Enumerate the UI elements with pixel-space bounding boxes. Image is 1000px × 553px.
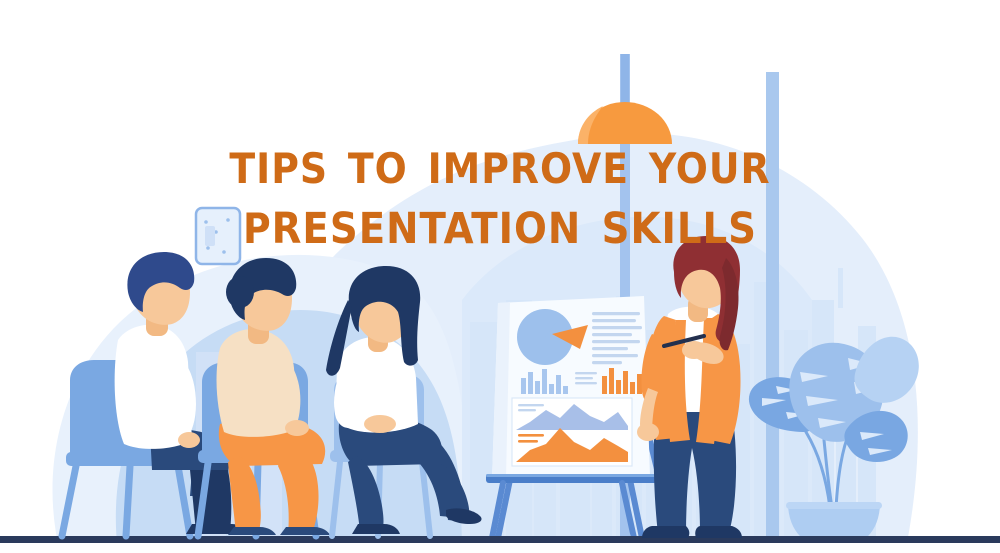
attendee-one-hand: [178, 432, 200, 448]
floor-plane: [0, 543, 1000, 553]
presentation-scene: [0, 0, 1000, 553]
presenter-hand-right: [682, 341, 706, 359]
window-pillar-right: [766, 72, 779, 553]
attendee-two-hair-bun: [226, 276, 254, 308]
wall-light-switch: [196, 208, 240, 264]
floor-line: [0, 536, 1000, 543]
presenter-hand-left: [637, 423, 659, 441]
illustration-canvas: Tips to Improve Your Presentation Skills: [0, 0, 1000, 553]
attendee-two-hand: [285, 420, 309, 436]
attendee-three-hand: [364, 415, 396, 433]
presenter-shoe-left: [642, 526, 689, 538]
plant-pot-rim: [786, 502, 882, 509]
attendee-one-shin: [190, 470, 231, 532]
easel-tray-highlight: [486, 474, 658, 477]
presenter-shoe-right: [695, 526, 742, 538]
